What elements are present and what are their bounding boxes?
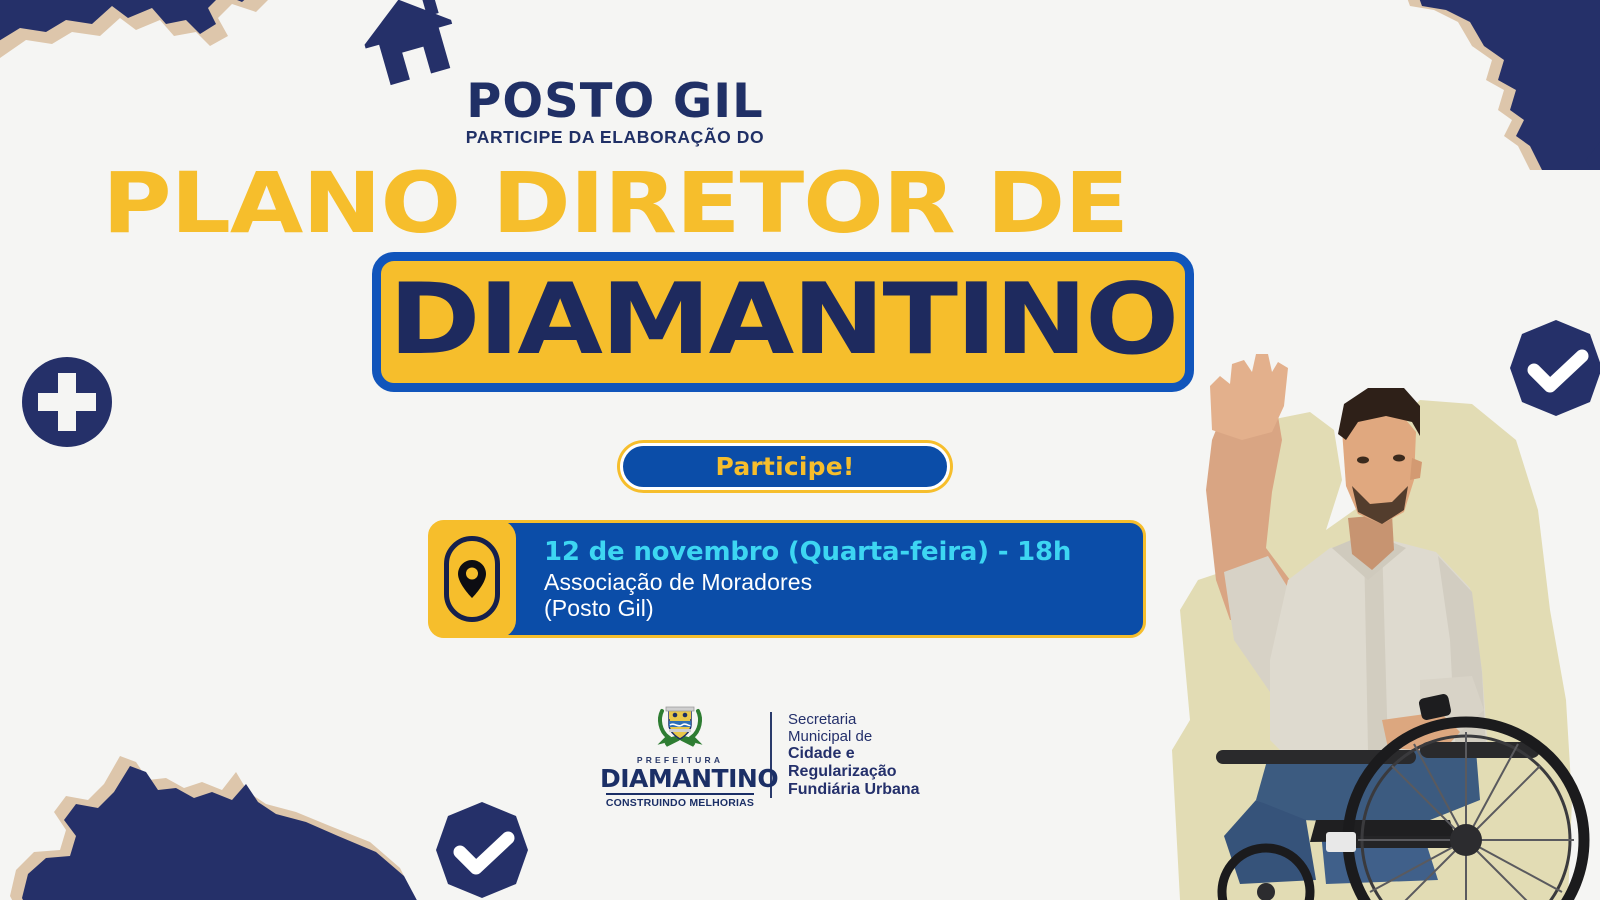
event-info-card: 12 de novembro (Quarta-feira) - 18h Asso… [428, 520, 1146, 638]
medical-cross-icon [20, 355, 114, 449]
event-text-group: 12 de novembro (Quarta-feira) - 18h Asso… [544, 539, 1071, 620]
kicker-text: PARTICIPE DA ELABORAÇÃO DO [0, 129, 1230, 147]
map-silhouette-bottom-left [0, 700, 440, 900]
event-date: 12 de novembro (Quarta-feira) - 18h [544, 539, 1071, 565]
map-silhouette-top-right [1400, 0, 1600, 170]
secretaria-logo: Secretaria Municipal de Cidade e Regular… [788, 711, 920, 800]
location-pin-icon [444, 536, 500, 622]
house-icon [345, 0, 475, 87]
prefeitura-tagline: CONSTRUINDO MELHORIAS [600, 797, 760, 809]
check-badge-icon-left [432, 800, 532, 900]
secretaria-line-3: Cidade e [788, 745, 920, 763]
secretaria-line-2: Municipal de [788, 728, 920, 745]
page-title-line2: DIAMANTINO [389, 271, 1177, 369]
footer-logos: PREFEITURA DIAMANTINO CONSTRUINDO MELHOR… [600, 700, 1000, 810]
location-pin-tile [428, 520, 516, 638]
secretaria-line-5: Fundiária Urbana [788, 781, 920, 799]
headline-block: POSTO GIL PARTICIPE DA ELABORAÇÃO DO PLA… [0, 78, 1230, 245]
event-venue: Associação de Moradores [544, 571, 1071, 594]
check-badge-icon-right [1496, 318, 1600, 418]
coat-of-arms-icon [654, 734, 706, 751]
page-title-line1: PLANO DIRETOR DE [0, 161, 1310, 245]
prefeitura-name: DIAMANTINO [600, 766, 760, 791]
event-venue-detail: (Posto Gil) [544, 597, 1071, 620]
page-title-badge: DIAMANTINO [372, 252, 1194, 392]
participe-button[interactable]: Participe! [620, 443, 950, 490]
eyebrow-posto-gil: POSTO GIL [0, 78, 1242, 125]
prefeitura-rule [606, 793, 754, 795]
secretaria-line-4: Regularização [788, 763, 920, 781]
participe-button-label: Participe! [715, 454, 854, 479]
prefeitura-logo: PREFEITURA DIAMANTINO CONSTRUINDO MELHOR… [600, 701, 760, 809]
secretaria-line-1: Secretaria [788, 711, 920, 728]
poster-canvas: POSTO GIL PARTICIPE DA ELABORAÇÃO DO PLA… [0, 0, 1600, 900]
